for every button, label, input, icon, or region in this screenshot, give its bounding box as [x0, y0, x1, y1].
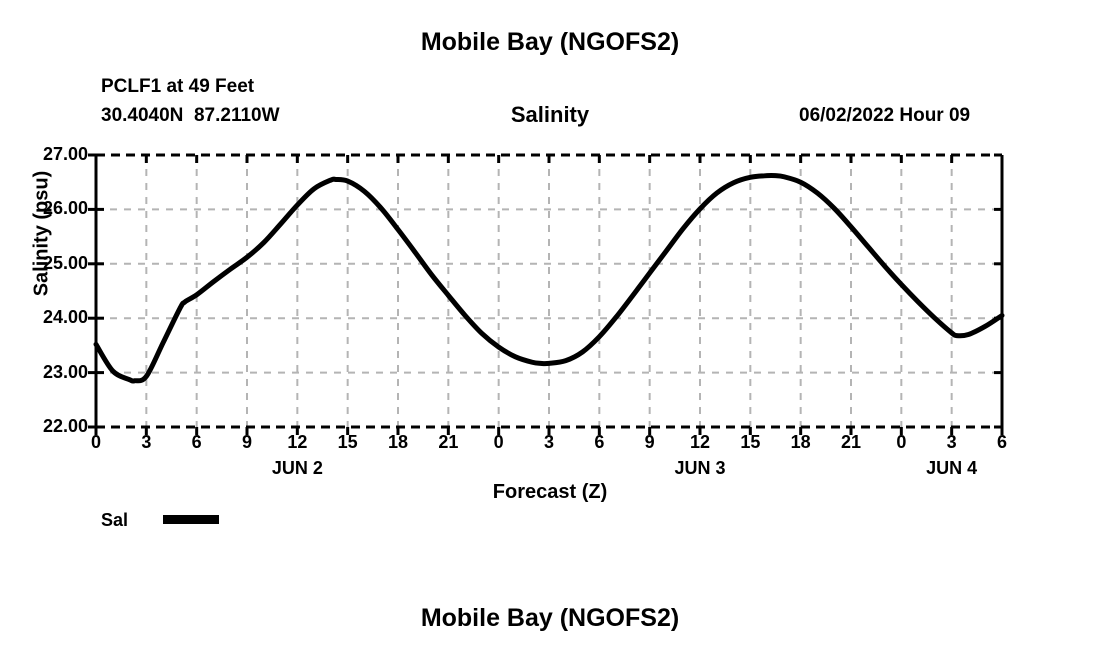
legend-swatch-sal	[163, 515, 219, 524]
x-tick-label: 3	[932, 432, 972, 453]
x-tick-label: 9	[630, 432, 670, 453]
y-tick-label: 23.00	[8, 362, 88, 383]
y-tick-label: 24.00	[8, 307, 88, 328]
day-label: JUN 4	[892, 458, 1012, 479]
x-tick-label: 0	[881, 432, 921, 453]
x-tick-label: 3	[126, 432, 166, 453]
chart-page: Mobile Bay (NGOFS2) PCLF1 at 49 Feet 30.…	[0, 0, 1100, 650]
x-tick-label: 0	[479, 432, 519, 453]
y-tick-label: 27.00	[8, 144, 88, 165]
x-tick-label: 9	[227, 432, 267, 453]
x-tick-label: 21	[831, 432, 871, 453]
x-tick-label: 12	[680, 432, 720, 453]
x-tick-label: 15	[730, 432, 770, 453]
x-tick-label: 6	[579, 432, 619, 453]
data-line-sal	[96, 175, 1002, 381]
legend-label: Sal	[101, 510, 128, 531]
x-tick-label: 3	[529, 432, 569, 453]
footer-title: Mobile Bay (NGOFS2)	[0, 604, 1100, 633]
day-label: JUN 2	[237, 458, 357, 479]
x-tick-label: 15	[328, 432, 368, 453]
x-tick-label: 18	[378, 432, 418, 453]
x-tick-label: 18	[781, 432, 821, 453]
y-tick-label: 26.00	[8, 198, 88, 219]
x-tick-label: 12	[277, 432, 317, 453]
x-tick-label: 6	[177, 432, 217, 453]
y-tick-label: 25.00	[8, 253, 88, 274]
day-label: JUN 3	[640, 458, 760, 479]
x-tick-label: 6	[982, 432, 1022, 453]
salinity-line-chart	[0, 0, 1100, 650]
x-tick-label: 0	[76, 432, 116, 453]
x-tick-label: 21	[428, 432, 468, 453]
